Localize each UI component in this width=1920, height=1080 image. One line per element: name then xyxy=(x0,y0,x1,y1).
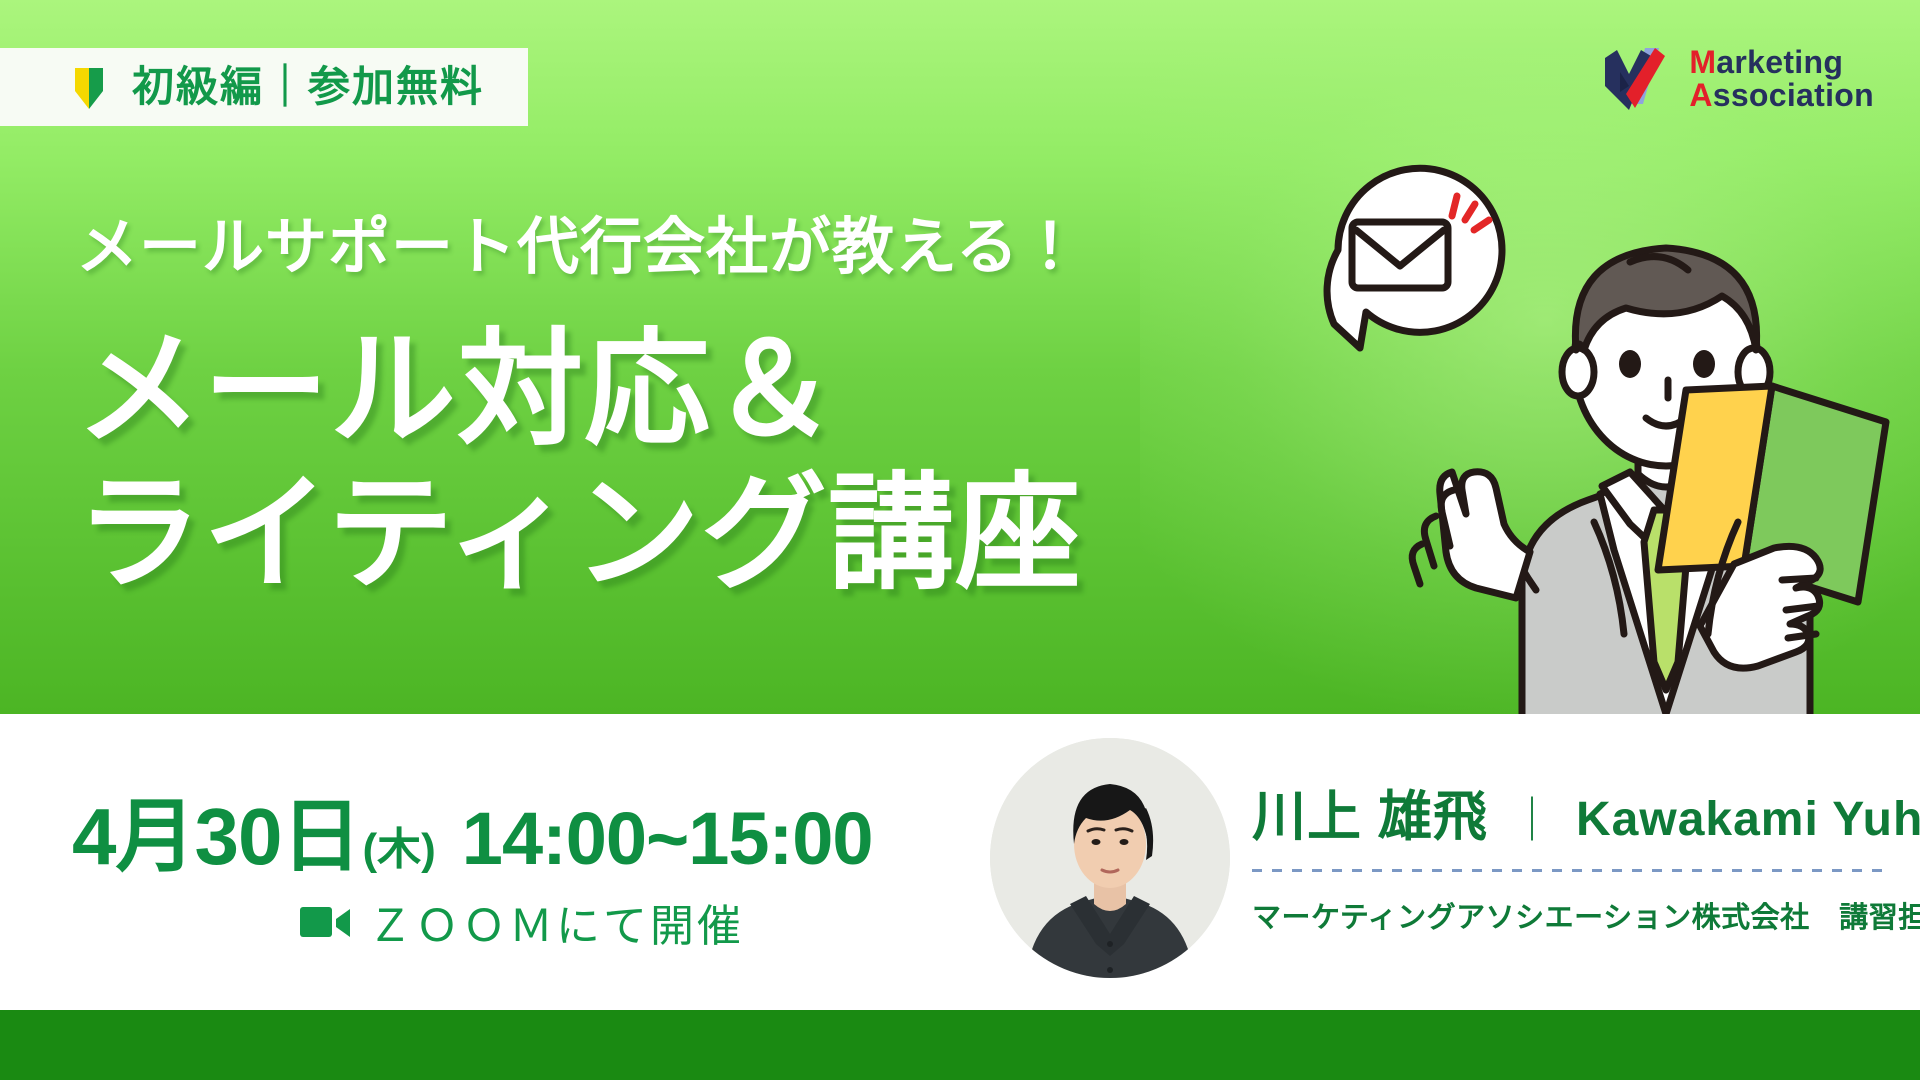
speaker-name-jp: 川上 雄飛 xyxy=(1252,772,1488,851)
speaker-divider xyxy=(1252,869,1892,872)
marketing-association-logo-mark-icon xyxy=(1599,42,1673,116)
logo-wordmark: Marketing Association xyxy=(1689,46,1874,113)
speaker-name: 川上 雄飛 ｜ Kawakami Yuhi xyxy=(1252,772,1892,851)
footer-bar xyxy=(0,1010,1920,1080)
speaker-avatar xyxy=(990,738,1230,978)
course-level-badge: 初級編｜参加無料 xyxy=(0,48,528,126)
logo-marketing-rest: arketing xyxy=(1716,44,1843,80)
event-datetime: 4月30日 (木) 14:00~15:00 xyxy=(72,772,873,888)
event-venue: ＺＯＯＭにて開催 xyxy=(300,890,744,954)
hero-title-line-1: メール対応＆ xyxy=(76,318,1082,462)
event-info-section: 4月30日 (木) 14:00~15:00 ＺＯＯＭにて開催 xyxy=(0,714,1920,1010)
logo-line-marketing: Marketing xyxy=(1689,46,1874,79)
event-date: 4月30日 xyxy=(72,772,360,888)
businessman-illustration xyxy=(1286,150,1896,714)
marketing-association-logo[interactable]: Marketing Association xyxy=(1599,42,1874,116)
logo-a: A xyxy=(1689,77,1712,113)
speaker-info: 川上 雄飛 ｜ Kawakami Yuhi マーケティングアソシエーション株式会… xyxy=(1252,772,1892,936)
wakaba-beginner-mark-icon xyxy=(72,65,106,109)
event-day-of-week: (木) xyxy=(362,813,435,877)
hero-title: メール対応＆ ライティング講座 xyxy=(76,318,1082,605)
hero-section: 初級編｜参加無料 Marketing Association メールサポート代行… xyxy=(0,0,1920,714)
badge-label: 初級編｜参加無料 xyxy=(132,66,484,108)
hero-title-line-2: ライティング講座 xyxy=(76,462,1082,606)
speaker-organization: マーケティングアソシエーション株式会社 講習担当 xyxy=(1252,894,1892,936)
video-camera-icon xyxy=(300,905,350,939)
hero-subtitle: メールサポート代行会社が教える！ xyxy=(76,196,1082,286)
webinar-banner: 初級編｜参加無料 Marketing Association メールサポート代行… xyxy=(0,0,1920,1080)
event-time: 14:00~15:00 xyxy=(462,796,873,881)
logo-m: M xyxy=(1689,44,1716,80)
venue-label: ＺＯＯＭにて開催 xyxy=(368,890,744,954)
speaker-name-en: Kawakami Yuhi xyxy=(1576,792,1920,847)
logo-line-association: Association xyxy=(1689,79,1874,112)
logo-association-rest: ssociation xyxy=(1713,77,1874,113)
speaker-name-separator: ｜ xyxy=(1510,784,1554,848)
